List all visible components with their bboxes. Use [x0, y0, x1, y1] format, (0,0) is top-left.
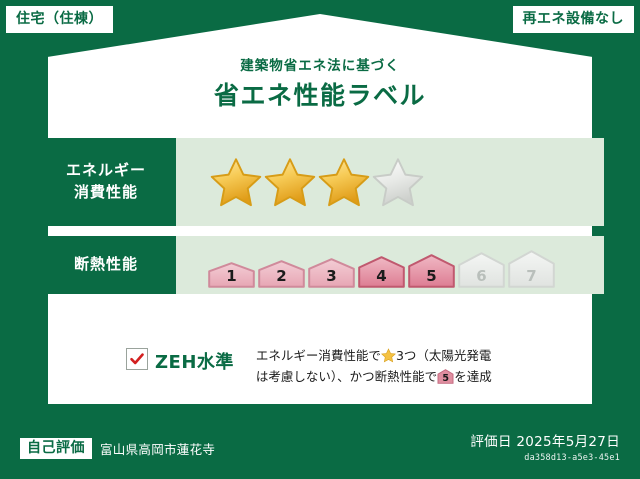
grade-badge-inactive: 6 [458, 252, 505, 288]
zeh-description: エネルギー消費性能で 3つ（太陽光発電 は考慮しない）、かつ断熱性能で 5 を達… [256, 346, 492, 387]
insulation-grade-scale: 1234567 [190, 236, 555, 294]
zeh-standard-block: ZEH水準 エネルギー消費性能で 3つ（太陽光発電 は考慮しない）、かつ断熱性能… [126, 346, 492, 387]
label-title-block: 建築物省エネ法に基づく 省エネ性能ラベル [0, 58, 640, 110]
footer-left-group: 自己評価 富山県高岡市蓮花寺 [20, 438, 215, 459]
energy-performance-value [176, 138, 604, 226]
star-rating [190, 156, 424, 208]
zeh-desc-star-count: 3つ（太陽光発電 [396, 348, 491, 363]
grade-number: 6 [458, 269, 505, 284]
insulation-performance-label: 断熱性能 [36, 236, 176, 294]
grade-number: 7 [508, 269, 555, 284]
star-filled-icon [210, 156, 262, 208]
grade-badge-active: 1 [208, 262, 255, 288]
zeh-desc-part1: エネルギー消費性能で [256, 348, 381, 363]
grade-number: 4 [358, 269, 405, 284]
evaluation-date: 評価日 2025年5月27日 [470, 430, 620, 450]
energy-performance-label: エネルギー 消費性能 [36, 138, 176, 226]
inline-grade-number: 5 [437, 374, 454, 384]
inline-star-icon [381, 348, 396, 363]
grade-number: 1 [208, 269, 255, 284]
evaluation-id: da358d13-a5e3-45e1 [470, 453, 620, 463]
renewable-energy-tag: 再エネ設備なし [513, 6, 635, 33]
metric-rows: エネルギー 消費性能 断熱性能 1234567 [36, 138, 604, 304]
energy-label-line1: エネルギー [66, 160, 146, 182]
insulation-performance-row: 断熱性能 1234567 [36, 236, 604, 294]
check-icon [129, 351, 145, 367]
energy-label-line2: 消費性能 [74, 182, 138, 204]
zeh-standard-name: ZEH水準 [155, 348, 234, 374]
building-type-tag: 住宅（住棟） [6, 6, 113, 33]
grade-badge-active: 2 [258, 260, 305, 288]
star-filled-icon [264, 156, 316, 208]
energy-performance-row: エネルギー 消費性能 [36, 138, 604, 226]
title-subtitle: 建築物省エネ法に基づく [0, 58, 640, 76]
zeh-desc-part3: を達成 [454, 369, 492, 384]
grade-badge-active: 3 [308, 258, 355, 288]
grade-number: 3 [308, 269, 355, 284]
grade-badge-inactive: 7 [508, 250, 555, 288]
star-empty-icon [372, 156, 424, 208]
star-filled-icon [318, 156, 370, 208]
energy-performance-label: 住宅（住棟） 再エネ設備なし 建築物省エネ法に基づく 省エネ性能ラベル エネルギ… [0, 0, 640, 479]
zeh-desc-part2: は考慮しない）、かつ断熱性能で [256, 369, 437, 384]
grade-badge-active: 5 [408, 254, 455, 288]
grade-badge-active: 4 [358, 256, 405, 288]
zeh-checkbox[interactable] [126, 348, 148, 370]
self-evaluation-badge: 自己評価 [20, 438, 92, 459]
label-footer: 自己評価 富山県高岡市蓮花寺 評価日 2025年5月27日 da358d13-a… [0, 404, 640, 479]
building-address: 富山県高岡市蓮花寺 [100, 439, 215, 458]
insulation-label-line1: 断熱性能 [74, 254, 138, 276]
grade-number: 5 [408, 269, 455, 284]
inline-grade-badge: 5 [437, 369, 454, 384]
grade-number: 2 [258, 269, 305, 284]
insulation-performance-value: 1234567 [176, 236, 604, 294]
footer-right-group: 評価日 2025年5月27日 da358d13-a5e3-45e1 [470, 430, 620, 463]
title-main: 省エネ性能ラベル [0, 82, 640, 111]
